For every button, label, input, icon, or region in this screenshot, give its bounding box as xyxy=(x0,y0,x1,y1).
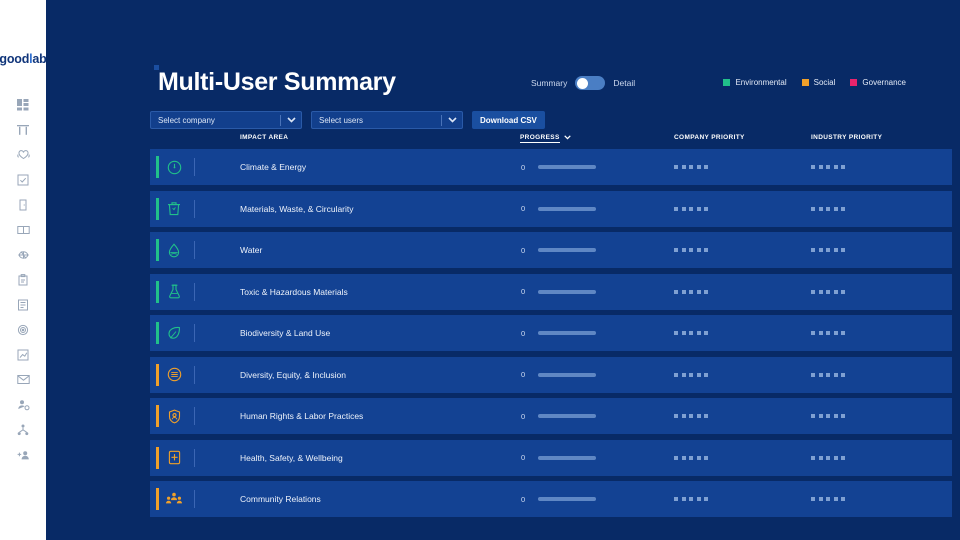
industry-priority-dots xyxy=(811,331,845,335)
row-category-accent xyxy=(156,281,159,303)
legend-item-governance: Governance xyxy=(850,78,906,87)
industry-priority-dots xyxy=(811,414,845,418)
priority-dot xyxy=(826,414,830,418)
priority-dot xyxy=(834,165,838,169)
clipboard-icon xyxy=(17,274,29,286)
priority-dot xyxy=(674,331,678,335)
row-divider xyxy=(194,283,195,301)
filter-controls: Select company Select users Download CSV xyxy=(150,111,545,129)
industry-priority-dots xyxy=(811,165,845,169)
progress-value: 0 xyxy=(521,163,525,172)
progress-bar xyxy=(538,207,596,211)
brand-text-1: good xyxy=(0,52,29,66)
sidebar-item-goals[interactable] xyxy=(8,317,38,342)
priority-dot xyxy=(704,290,708,294)
priority-dot xyxy=(834,207,838,211)
progress-value: 0 xyxy=(521,329,525,338)
sort-chevron-down-icon[interactable] xyxy=(564,135,571,142)
company-select[interactable]: Select company xyxy=(150,111,302,129)
industry-priority-dots xyxy=(811,373,845,377)
heart-hands-icon xyxy=(17,149,30,161)
company-priority-dots xyxy=(674,165,708,169)
users-select-value: Select users xyxy=(319,116,363,125)
priority-dot xyxy=(689,290,693,294)
priority-dot xyxy=(811,414,815,418)
priority-dot xyxy=(841,290,845,294)
legend-item-environmental: Environmental xyxy=(723,78,786,87)
company-priority-dots xyxy=(674,248,708,252)
row-category-accent xyxy=(156,447,159,469)
row-category-accent xyxy=(156,322,159,344)
sidebar-item-reports[interactable] xyxy=(8,292,38,317)
priority-dot xyxy=(826,331,830,335)
progress-bar xyxy=(538,497,596,501)
sidebar-item-onboarding[interactable] xyxy=(8,192,38,217)
priority-dot xyxy=(689,373,693,377)
row-divider xyxy=(194,449,195,467)
table-row[interactable]: Diversity, Equity, & Inclusion0 xyxy=(150,357,952,393)
priority-dot xyxy=(674,290,678,294)
column-header-progress[interactable]: PROGRESS xyxy=(520,134,571,143)
priority-dot xyxy=(841,248,845,252)
progress-value: 0 xyxy=(521,453,525,462)
legend-item-social: Social xyxy=(802,78,836,87)
priority-dot xyxy=(811,290,815,294)
impact-area-label: Community Relations xyxy=(240,494,321,504)
priority-dot xyxy=(682,207,686,211)
priority-dot xyxy=(689,497,693,501)
priority-dot xyxy=(682,456,686,460)
progress-bar xyxy=(538,165,596,169)
brand-logo[interactable]: goodlab xyxy=(0,52,47,66)
legend-label-environmental: Environmental xyxy=(735,78,786,87)
table-row[interactable]: Climate & Energy0 xyxy=(150,149,952,185)
priority-dot xyxy=(841,207,845,211)
row-category-accent xyxy=(156,488,159,510)
priority-dot xyxy=(697,331,701,335)
priority-dot xyxy=(811,165,815,169)
priority-dot xyxy=(689,165,693,169)
shield-person-icon xyxy=(163,405,185,427)
impact-area-label: Health, Safety, & Wellbeing xyxy=(240,453,343,463)
priority-dot xyxy=(819,497,823,501)
row-divider xyxy=(194,324,195,342)
door-icon xyxy=(17,199,29,211)
sidebar-item-pillars[interactable] xyxy=(8,117,38,142)
chevron-down-icon[interactable] xyxy=(281,117,301,123)
priority-dot xyxy=(811,331,815,335)
progress-value: 0 xyxy=(521,495,525,504)
sidebar-item-invite[interactable] xyxy=(8,442,38,467)
company-priority-dots xyxy=(674,373,708,377)
progress-bar xyxy=(538,331,596,335)
flask-icon xyxy=(163,281,185,303)
sidebar-item-global[interactable] xyxy=(8,242,38,267)
table-row[interactable]: Community Relations0 xyxy=(150,481,952,517)
priority-dot xyxy=(819,414,823,418)
recycle-bin-icon xyxy=(163,198,185,220)
checkbox-icon xyxy=(17,174,29,186)
table-row[interactable]: Materials, Waste, & Circularity0 xyxy=(150,191,952,227)
toggle-label-detail: Detail xyxy=(613,78,635,88)
priority-dot xyxy=(841,331,845,335)
sidebar-item-account[interactable] xyxy=(8,392,38,417)
priority-dot xyxy=(811,497,815,501)
leaf-icon xyxy=(163,322,185,344)
download-csv-button[interactable]: Download CSV xyxy=(472,111,545,129)
priority-dot xyxy=(674,248,678,252)
priority-dot xyxy=(841,165,845,169)
priority-dot xyxy=(834,331,838,335)
legend-swatch-environmental xyxy=(723,79,730,86)
impact-area-label: Toxic & Hazardous Materials xyxy=(240,287,348,297)
progress-bar xyxy=(538,290,596,294)
priority-dot xyxy=(826,165,830,169)
progress-value: 0 xyxy=(521,370,525,379)
company-priority-dots xyxy=(674,414,708,418)
priority-dot xyxy=(682,497,686,501)
legend-label-governance: Governance xyxy=(862,78,906,87)
company-select-value: Select company xyxy=(158,116,215,125)
priority-dot xyxy=(826,456,830,460)
impact-area-label: Diversity, Equity, & Inclusion xyxy=(240,370,346,380)
table-row[interactable]: Toxic & Hazardous Materials0 xyxy=(150,274,952,310)
priority-dot xyxy=(704,331,708,335)
priority-dot xyxy=(826,248,830,252)
sidebar-item-messages[interactable] xyxy=(8,367,38,392)
priority-dot xyxy=(834,414,838,418)
legend-label-social: Social xyxy=(814,78,836,87)
add-user-icon xyxy=(17,449,30,461)
priority-dot xyxy=(834,290,838,294)
priority-dot xyxy=(819,290,823,294)
priority-dot xyxy=(811,248,815,252)
priority-dot xyxy=(834,373,838,377)
priority-dot xyxy=(704,207,708,211)
company-priority-dots xyxy=(674,456,708,460)
row-divider xyxy=(194,490,195,508)
water-drop-icon xyxy=(163,239,185,261)
sidebar-item-dashboard[interactable] xyxy=(8,92,38,117)
table-row[interactable]: Water0 xyxy=(150,232,952,268)
brand-text-2: ab xyxy=(32,52,46,66)
priority-dot xyxy=(682,290,686,294)
priority-dot xyxy=(834,456,838,460)
sidebar-item-impact[interactable] xyxy=(8,142,38,167)
priority-dot xyxy=(689,248,693,252)
priority-dot xyxy=(704,456,708,460)
impact-area-table: Climate & Energy0Materials, Waste, & Cir… xyxy=(150,149,952,523)
column-header-company-priority[interactable]: COMPANY PRIORITY xyxy=(674,134,745,141)
dashboard-icon xyxy=(17,99,29,111)
priority-dot xyxy=(819,207,823,211)
priority-dot xyxy=(682,414,686,418)
priority-dot xyxy=(811,207,815,211)
priority-dot xyxy=(689,207,693,211)
priority-dot xyxy=(704,414,708,418)
progress-bar xyxy=(538,248,596,252)
priority-dot xyxy=(841,456,845,460)
company-priority-dots xyxy=(674,290,708,294)
priority-dot xyxy=(811,456,815,460)
legend-swatch-social xyxy=(802,79,809,86)
table-row[interactable]: Human Rights & Labor Practices0 xyxy=(150,398,952,434)
priority-dot xyxy=(704,373,708,377)
priority-dot xyxy=(689,331,693,335)
priority-dot xyxy=(697,248,701,252)
sidebar-item-organization[interactable] xyxy=(8,417,38,442)
priority-dot xyxy=(697,497,701,501)
toggle-switch[interactable] xyxy=(575,76,605,90)
row-category-accent xyxy=(156,364,159,386)
pillars-icon xyxy=(17,124,29,136)
priority-dot xyxy=(682,331,686,335)
column-header-impact-area[interactable]: IMPACT AREA xyxy=(240,134,288,141)
column-header-industry-priority[interactable]: INDUSTRY PRIORITY xyxy=(811,134,882,141)
toggle-label-summary: Summary xyxy=(531,78,567,88)
group-people-icon xyxy=(163,488,185,510)
priority-dot xyxy=(689,456,693,460)
row-category-accent xyxy=(156,198,159,220)
priority-dot xyxy=(697,456,701,460)
priority-dot xyxy=(826,207,830,211)
priority-dot xyxy=(704,248,708,252)
priority-dot xyxy=(704,165,708,169)
company-priority-dots xyxy=(674,331,708,335)
row-divider xyxy=(194,200,195,218)
sidebar-item-library[interactable] xyxy=(8,217,38,242)
priority-dot xyxy=(674,497,678,501)
table-row[interactable]: Biodiversity & Land Use0 xyxy=(150,315,952,351)
chart-icon xyxy=(17,349,29,361)
priority-dot xyxy=(674,456,678,460)
column-header-progress-label: PROGRESS xyxy=(520,134,560,143)
impact-area-label: Biodiversity & Land Use xyxy=(240,328,330,338)
company-priority-dots xyxy=(674,207,708,211)
industry-priority-dots xyxy=(811,456,845,460)
target-icon xyxy=(17,324,29,336)
envelope-icon xyxy=(17,374,30,385)
priority-dot xyxy=(819,456,823,460)
row-category-accent xyxy=(156,405,159,427)
table-header: IMPACT AREA PROGRESS COMPANY PRIORITY IN… xyxy=(150,134,952,146)
table-row[interactable]: Health, Safety, & Wellbeing0 xyxy=(150,440,952,476)
row-divider xyxy=(194,158,195,176)
industry-priority-dots xyxy=(811,207,845,211)
priority-dot xyxy=(682,373,686,377)
progress-bar xyxy=(538,456,596,460)
progress-value: 0 xyxy=(521,204,525,213)
priority-dot xyxy=(697,414,701,418)
user-settings-icon xyxy=(17,399,30,411)
priority-dot xyxy=(697,165,701,169)
progress-bar xyxy=(538,414,596,418)
priority-dot xyxy=(826,290,830,294)
progress-bar xyxy=(538,373,596,377)
industry-priority-dots xyxy=(811,497,845,501)
priority-dot xyxy=(841,497,845,501)
impact-area-label: Climate & Energy xyxy=(240,162,306,172)
priority-dot xyxy=(674,165,678,169)
priority-dot xyxy=(811,373,815,377)
industry-priority-dots xyxy=(811,248,845,252)
row-divider xyxy=(194,366,195,384)
category-legend: Environmental Social Governance xyxy=(723,78,906,87)
impact-area-label: Water xyxy=(240,245,262,255)
row-category-accent xyxy=(156,239,159,261)
company-priority-dots xyxy=(674,497,708,501)
priority-dot xyxy=(704,497,708,501)
progress-value: 0 xyxy=(521,246,525,255)
sidebar-rail: goodlab xyxy=(0,0,46,525)
priority-dot xyxy=(841,373,845,377)
priority-dot xyxy=(674,414,678,418)
row-divider xyxy=(194,407,195,425)
priority-dot xyxy=(819,165,823,169)
legend-swatch-governance xyxy=(850,79,857,86)
app-screen: goodlab xyxy=(0,0,960,540)
priority-dot xyxy=(819,248,823,252)
impact-area-label: Materials, Waste, & Circularity xyxy=(240,204,354,214)
priority-dot xyxy=(682,248,686,252)
sidebar-item-analytics[interactable] xyxy=(8,342,38,367)
row-category-accent xyxy=(156,156,159,178)
sidebar-item-assessments[interactable] xyxy=(8,267,38,292)
list-icon xyxy=(17,299,29,311)
priority-dot xyxy=(697,207,701,211)
priority-dot xyxy=(826,373,830,377)
priority-dot xyxy=(674,207,678,211)
progress-value: 0 xyxy=(521,287,525,296)
users-select[interactable]: Select users xyxy=(311,111,463,129)
priority-dot xyxy=(682,165,686,169)
sidebar-icon-list xyxy=(8,92,38,467)
priority-dot xyxy=(819,373,823,377)
priority-dot xyxy=(689,414,693,418)
org-chart-icon xyxy=(17,424,29,436)
impact-area-label: Human Rights & Labor Practices xyxy=(240,411,363,421)
industry-priority-dots xyxy=(811,290,845,294)
chevron-down-icon[interactable] xyxy=(442,117,462,123)
priority-dot xyxy=(674,373,678,377)
priority-dot xyxy=(841,414,845,418)
first-aid-icon xyxy=(163,447,185,469)
toggle-knob xyxy=(577,78,588,89)
page-title: Multi-User Summary xyxy=(158,68,396,97)
priority-dot xyxy=(697,373,701,377)
priority-dot xyxy=(834,248,838,252)
priority-dot xyxy=(826,497,830,501)
content-panel: Multi-User Summary Summary Detail Enviro… xyxy=(46,0,960,540)
priority-dot xyxy=(834,497,838,501)
gauge-icon xyxy=(163,156,185,178)
sidebar-item-tasks[interactable] xyxy=(8,167,38,192)
priority-dot xyxy=(697,290,701,294)
row-divider xyxy=(194,241,195,259)
summary-detail-toggle[interactable]: Summary Detail xyxy=(531,76,635,90)
progress-value: 0 xyxy=(521,412,525,421)
globe-icon xyxy=(17,249,30,261)
book-icon xyxy=(17,224,30,236)
priority-dot xyxy=(819,331,823,335)
people-circle-icon xyxy=(163,364,185,386)
